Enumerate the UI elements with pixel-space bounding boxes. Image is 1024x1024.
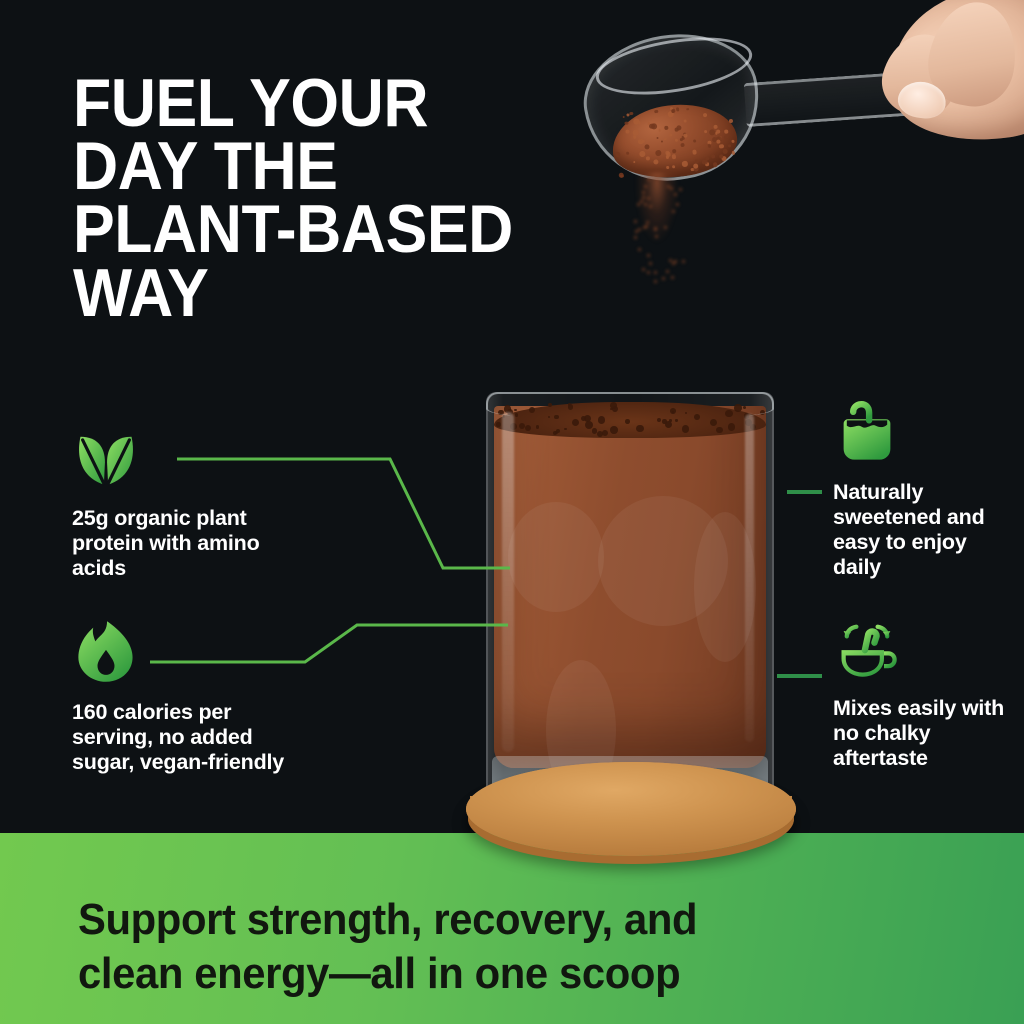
powder-speck: [644, 203, 647, 206]
powder-grain: [703, 113, 707, 117]
powder-speck: [647, 178, 650, 181]
powder-speck: [672, 262, 675, 265]
powder-speck: [646, 221, 649, 224]
powder-speck: [672, 210, 675, 213]
cocoa-crumb: [585, 421, 593, 429]
powder-grain: [655, 150, 661, 156]
powder-grain: [692, 150, 697, 155]
powder-grain: [728, 144, 732, 148]
cocoa-crumb: [564, 428, 567, 431]
glass-highlight-left: [502, 412, 514, 752]
powder-grain: [666, 166, 669, 169]
powder-grain: [620, 174, 624, 178]
powder-grain: [646, 156, 650, 160]
powder-grain: [682, 161, 688, 167]
cocoa-crumb: [710, 419, 717, 426]
wooden-coaster-overlap: [466, 762, 796, 856]
powder-grain: [644, 144, 650, 150]
flame-drop-icon: [72, 618, 140, 686]
powder-grain: [676, 107, 680, 111]
powder-speck: [634, 220, 637, 223]
feature-mixes-easily: Mixes easily with no chalky aftertaste: [833, 614, 1013, 771]
powder-grain: [671, 110, 674, 113]
powder-grain: [625, 129, 630, 134]
powder-speck: [662, 277, 665, 280]
powder-grain: [719, 144, 724, 149]
powder-grain: [639, 151, 646, 158]
banner-tagline: Support strength, recovery, and clean en…: [78, 893, 697, 1000]
banner-line-1: Support strength, recovery, and: [78, 893, 697, 947]
powder-grain: [731, 151, 734, 154]
powder-grain: [683, 133, 688, 138]
powder-speck: [645, 225, 648, 228]
leaf-icon: [72, 424, 140, 492]
powder-grain: [638, 121, 641, 124]
headline-line-2: day the: [73, 135, 505, 198]
powder-grain: [672, 149, 677, 154]
powder-grain: [671, 154, 676, 159]
headline-line-3: plant-based: [73, 198, 505, 261]
product-infographic-poster: Fuel your day the plant-based way 25g or…: [0, 0, 1024, 1024]
powder-grain: [658, 129, 661, 132]
coconut-drink-icon: [833, 398, 901, 466]
banner-line-2: clean energy—all in one scoop: [78, 947, 697, 1001]
powder-speck: [664, 226, 667, 229]
powder-grain: [633, 161, 635, 163]
mixing-cup-icon: [833, 614, 901, 682]
powder-grain: [704, 130, 707, 133]
powder-speck: [634, 236, 637, 239]
powder-speck: [642, 191, 645, 194]
powder-speck: [642, 268, 645, 271]
powder-speck: [649, 262, 652, 265]
powder-grain: [664, 138, 667, 141]
feature-label: 25g organic plant protein with amino aci…: [72, 506, 307, 581]
page-title: Fuel your day the plant-based way: [73, 72, 505, 325]
powder-grain: [675, 138, 679, 142]
glass-highlight-right: [745, 414, 754, 742]
feature-organic-protein: 25g organic plant protein with amino aci…: [72, 424, 307, 581]
cocoa-crumb: [602, 430, 608, 436]
powder-speck: [671, 276, 674, 279]
cocoa-crumb: [682, 425, 690, 433]
powder-grain: [676, 125, 682, 131]
powder-speck: [649, 205, 652, 208]
powder-grain: [624, 121, 628, 125]
feature-label: Naturally sweetened and easy to enjoy da…: [833, 480, 1013, 581]
powder-speck: [637, 203, 640, 206]
powder-speck: [679, 188, 682, 191]
powder-grain: [626, 152, 630, 156]
powder-speck: [682, 260, 685, 263]
powder-grain: [661, 140, 663, 142]
powder-speck: [642, 196, 645, 199]
powder-grain: [664, 126, 668, 130]
powder-speck: [640, 200, 643, 203]
feature-calories: 160 calories per serving, no added sugar…: [72, 618, 307, 775]
powder-grain: [711, 154, 715, 158]
powder-grain: [731, 140, 734, 143]
glass-of-chocolate-shake: [486, 392, 774, 812]
headline-line-4: way: [73, 262, 505, 325]
cocoa-crumb: [636, 425, 644, 433]
headline-line-1: Fuel your: [73, 72, 505, 135]
powder-grain: [653, 159, 659, 165]
powder-grain: [642, 140, 645, 143]
powder-speck: [669, 259, 672, 262]
powder-grain: [632, 129, 638, 135]
powder-grain: [694, 159, 699, 164]
powder-grain: [725, 130, 729, 134]
powder-grain: [615, 152, 621, 158]
powder-grain: [686, 108, 689, 111]
powder-speck: [638, 248, 641, 251]
powder-grain: [680, 143, 685, 148]
powder-grain: [657, 137, 659, 139]
powder-speck: [647, 271, 650, 274]
cocoa-crumb: [496, 422, 501, 427]
powder-grain: [672, 165, 675, 168]
powder-grain: [715, 132, 718, 135]
feature-label: 160 calories per serving, no added sugar…: [72, 700, 307, 775]
powder-speck: [666, 270, 669, 273]
feature-naturally-sweetened: Naturally sweetened and easy to enjoy da…: [833, 398, 1013, 581]
powder-grain: [693, 139, 697, 143]
powder-speck: [638, 228, 641, 231]
powder-speck: [676, 203, 679, 206]
powder-grain: [669, 134, 672, 137]
feature-label: Mixes easily with no chalky aftertaste: [833, 696, 1013, 771]
powder-grain: [655, 109, 659, 113]
powder-grain: [713, 124, 718, 129]
cocoa-crumb: [536, 425, 540, 429]
powder-grain: [723, 149, 728, 154]
cocoa-crumb: [572, 419, 579, 426]
cocoa-crumb: [525, 425, 531, 431]
powder-speck: [635, 230, 638, 233]
glass-rim: [486, 392, 774, 420]
powder-speck: [644, 185, 647, 188]
powder-grain: [683, 119, 687, 123]
powder-speck: [670, 187, 673, 190]
powder-speck: [647, 254, 650, 257]
powder-speck: [655, 235, 658, 238]
powder-speck: [674, 193, 677, 196]
cocoa-crumb: [556, 429, 560, 433]
powder-grain: [724, 136, 728, 140]
powder-speck: [654, 271, 657, 274]
cocoa-crumb: [728, 423, 735, 430]
powder-grain: [651, 123, 658, 130]
cocoa-crumb: [716, 427, 722, 433]
powder-speck: [647, 197, 650, 200]
shake-highlight: [508, 502, 604, 612]
cocoa-crumb: [610, 426, 617, 433]
powder-grain: [633, 135, 637, 139]
falling-powder-stream: [630, 172, 684, 282]
powder-speck: [654, 280, 657, 283]
powder-grain: [702, 159, 708, 165]
